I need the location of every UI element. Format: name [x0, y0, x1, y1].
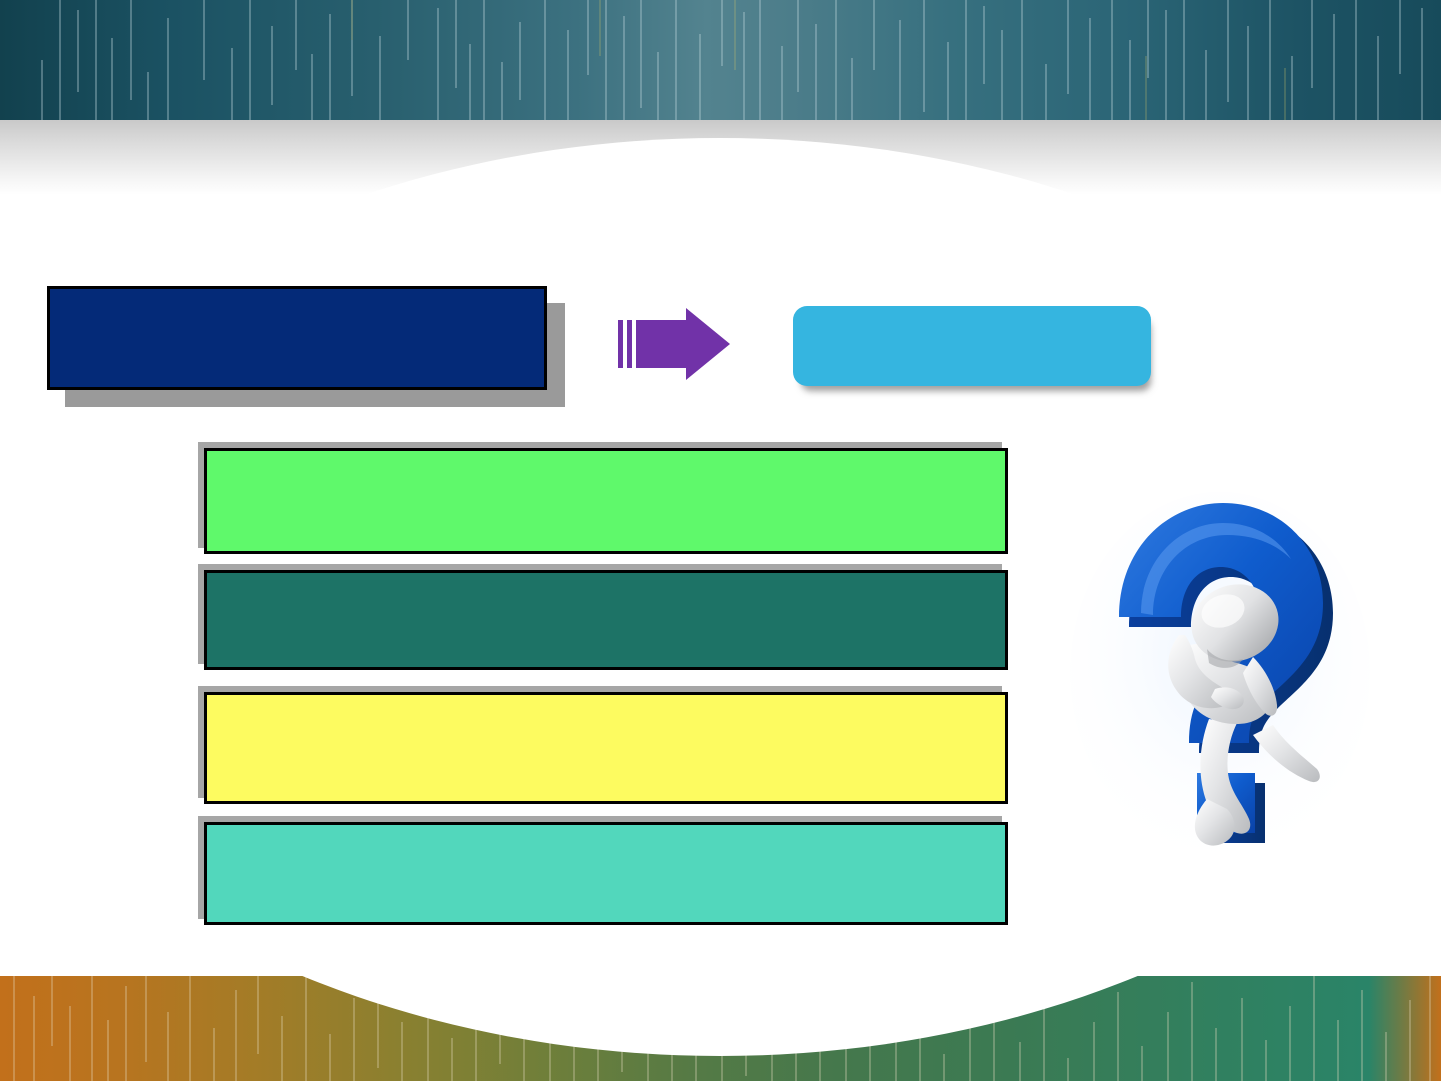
navy-content-box[interactable]: [47, 286, 547, 390]
right-arrow-icon: [618, 308, 730, 380]
bottom-decorative-band: [0, 976, 1441, 1081]
top-band-stripe-texture: [0, 0, 1441, 126]
process-arrow[interactable]: [618, 308, 730, 380]
cyan-content-box[interactable]: [793, 306, 1151, 386]
question-mark-icon: [1057, 477, 1383, 881]
content-row-1[interactable]: [204, 448, 1008, 554]
content-row-2[interactable]: [204, 570, 1008, 670]
presentation-slide: [0, 0, 1441, 1081]
content-row-3[interactable]: [204, 692, 1008, 804]
question-mark-thinking-figure-image: [1057, 477, 1383, 881]
content-row-4[interactable]: [204, 822, 1008, 925]
